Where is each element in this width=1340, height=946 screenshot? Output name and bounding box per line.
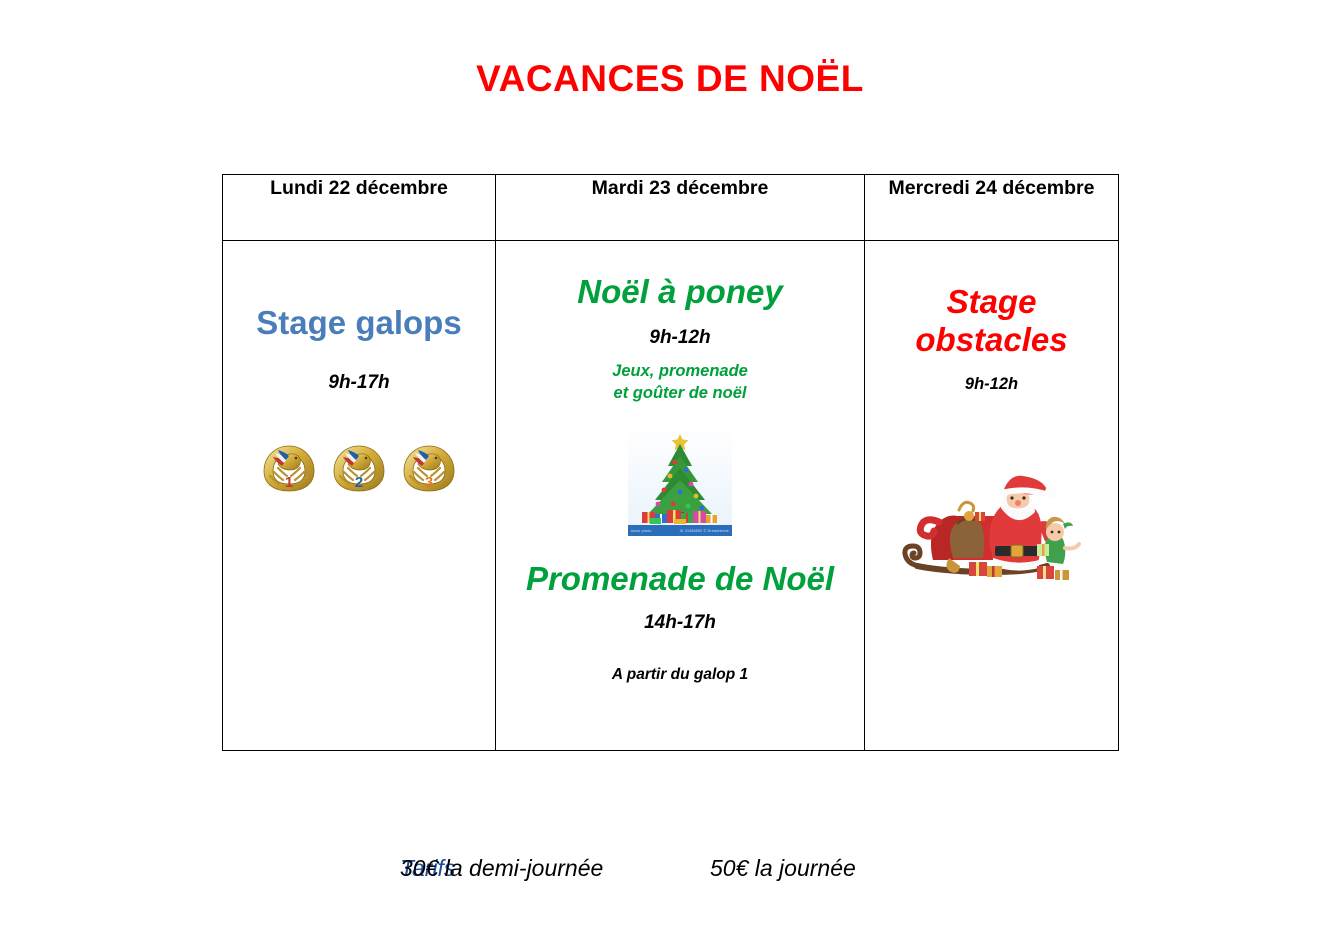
tariffs-row: Tarifs 30€ la demi-journée 50€ la journé…: [222, 855, 1118, 882]
activity-time-noel-a-poney: 9h-12h: [649, 327, 710, 349]
christmas-tree-image: stock photo ID 31086552 © Dreamstime: [628, 426, 732, 536]
activity-detail-line-1: Jeux, promenade: [612, 361, 748, 383]
galop-badge-1-icon: 1: [260, 442, 318, 499]
day-cell-mardi: Noël à poney 9h-12h Jeux, promenade et g…: [496, 241, 865, 751]
day-header-lundi: Lundi 22 décembre: [223, 175, 496, 241]
activity-detail-line-2: et goûter de noël: [614, 383, 747, 405]
page-title: VACANCES DE NOËL: [0, 58, 1340, 100]
tree-watermark-left: stock photo: [631, 529, 652, 533]
tariffs-label: Tarifs: [222, 855, 400, 882]
activity-time-stage-galops: 9h-17h: [328, 372, 389, 394]
day-header-mardi: Mardi 23 décembre: [496, 175, 865, 241]
svg-text:3: 3: [425, 474, 433, 491]
galop-badges-image: 1: [260, 442, 458, 499]
activity-time-stage-obstacles: 9h-12h: [965, 375, 1018, 394]
day-cell-lundi: Stage galops 9h-17h: [223, 241, 496, 751]
tree-watermark-right: ID 31086552 © Dreamstime: [680, 529, 729, 533]
day-header-mercredi: Mercredi 24 décembre: [865, 175, 1119, 241]
activity-title-promenade-de-noel: Promenade de Noël: [526, 560, 834, 598]
santa-sleigh-image: [897, 462, 1087, 597]
activity-title-noel-a-poney: Noël à poney: [577, 273, 782, 311]
galop-badge-3-icon: 3: [400, 442, 458, 499]
day-cell-mercredi: Stage obstacles 9h-12h: [865, 241, 1119, 751]
schedule-table: Lundi 22 décembre Mardi 23 décembre Merc…: [222, 174, 1119, 751]
activity-title-stage-obstacles: Stage obstacles: [907, 283, 1077, 359]
galop-badge-2-icon: 2: [330, 442, 388, 499]
tree-watermark-bar: stock photo ID 31086552 © Dreamstime: [628, 525, 732, 536]
activity-title-stage-galops: Stage galops: [256, 304, 461, 342]
svg-text:1: 1: [285, 474, 293, 491]
tariff-full-day: 50€ la journée: [710, 855, 856, 882]
svg-text:2: 2: [355, 474, 363, 491]
activity-time-promenade-de-noel: 14h-17h: [644, 612, 716, 634]
activity-note-galop-requirement: A partir du galop 1: [612, 666, 748, 684]
tariff-half-day: 30€ la demi-journée: [400, 855, 710, 882]
table-header-row: Lundi 22 décembre Mardi 23 décembre Merc…: [223, 175, 1119, 241]
table-content-row: Stage galops 9h-17h: [223, 241, 1119, 751]
